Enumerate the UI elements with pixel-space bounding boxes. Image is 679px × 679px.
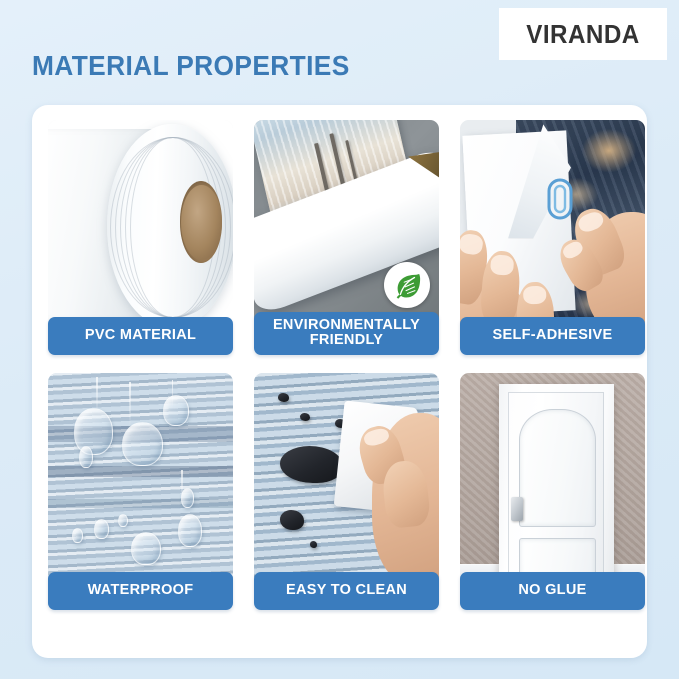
brand-logo-box: VIRANDA	[499, 8, 667, 60]
door-slab	[508, 392, 604, 594]
door-handle-icon	[511, 497, 524, 521]
feature-label-easy-to-clean: EASY TO CLEAN	[254, 572, 439, 610]
feature-tile-self-adhesive[interactable]: SELF-ADHESIVE	[460, 120, 645, 355]
feature-card: PVC MATERIAL	[32, 105, 647, 658]
pvc-roll-image	[48, 120, 233, 339]
feature-tile-waterproof[interactable]: WATERPROOF	[48, 373, 233, 610]
page-title: MATERIAL PROPERTIES	[32, 50, 350, 82]
eco-wallpaper-image	[254, 120, 439, 334]
feature-tile-easy-to-clean[interactable]: EASY TO CLEAN	[254, 373, 439, 610]
no-glue-door-image	[460, 373, 645, 594]
leaf-badge	[384, 262, 430, 308]
paperclip-icon	[545, 177, 575, 221]
feature-grid: PVC MATERIAL	[48, 120, 645, 610]
eco-label-line1: ENVIRONMENTALLY	[273, 317, 420, 333]
door-frame	[499, 384, 614, 594]
feature-label-pvc-material: PVC MATERIAL	[48, 317, 233, 355]
leaf-icon	[392, 270, 422, 300]
eco-label-line2: FRIENDLY	[310, 332, 384, 348]
waterproof-image	[48, 373, 233, 594]
feature-label-environmentally-friendly: ENVIRONMENTALLY FRIENDLY	[254, 312, 439, 355]
feature-label-waterproof: WATERPROOF	[48, 572, 233, 610]
brand-name: VIRANDA	[526, 19, 639, 50]
door-panel-top	[519, 409, 596, 528]
easy-to-clean-image	[254, 373, 439, 594]
feature-tile-no-glue[interactable]: NO GLUE	[460, 373, 645, 610]
feature-label-no-glue: NO GLUE	[460, 572, 645, 610]
roll-core	[180, 181, 223, 262]
feature-label-self-adhesive: SELF-ADHESIVE	[460, 317, 645, 355]
feature-tile-pvc-material[interactable]: PVC MATERIAL	[48, 120, 233, 355]
self-adhesive-image	[460, 120, 645, 339]
feature-tile-environmentally-friendly[interactable]: ENVIRONMENTALLY FRIENDLY	[254, 120, 439, 355]
